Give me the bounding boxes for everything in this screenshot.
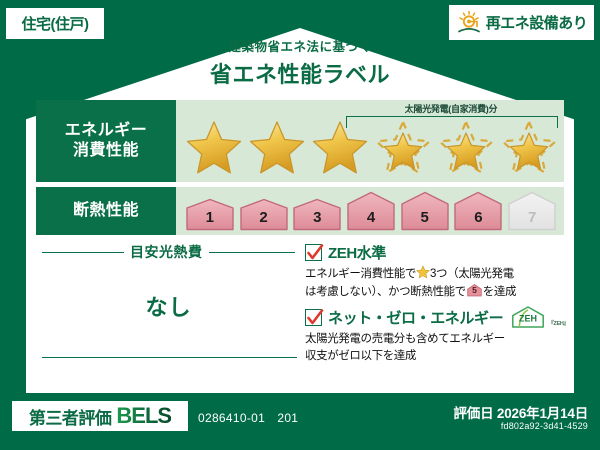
title-subtitle: 建築物省エネ法に基づく	[0, 36, 600, 55]
utility-cost-panel: 目安光熱費 なし	[36, 240, 301, 390]
net-zero-energy-description: 太陽光発電の売電分も含めてエネルギー 収支がゼロ以下を達成	[305, 331, 569, 364]
energy-star-5	[436, 119, 496, 177]
bels-registration-number: 0286410-01 201	[198, 409, 298, 426]
energy-star-rating	[182, 117, 560, 179]
inline-insulation-badge: 5	[466, 283, 483, 297]
inline-star-icon	[416, 265, 430, 279]
cost-rule-left	[42, 252, 124, 253]
bels-badge: 第三者評価 BELS	[12, 401, 188, 431]
zeh-standard-item: ZEH水準 エネルギー消費性能で 3つ（太陽光発電 は考慮しない）、かつ断熱性能…	[305, 242, 569, 300]
insulation-level-scale: 1234567	[184, 187, 558, 235]
net-zero-desc-line1: 太陽光発電の売電分も含めてエネルギー	[305, 333, 505, 345]
zeh-logo-subtext: 『ZEH』	[548, 319, 569, 329]
zeh-desc-part3: を達成	[483, 286, 516, 298]
bels-logo-text: BELS	[116, 403, 171, 429]
energy-star-3	[310, 119, 370, 177]
energy-label-root: 住宅(住戸) 再エネ設備あり 建築物省エネ法に基づく 省エネ性能ラベル	[0, 0, 600, 450]
energy-star-4	[373, 119, 433, 177]
net-zero-energy-title: ネット・ゼロ・エネルギー	[328, 307, 503, 328]
insulation-step-1: 1	[184, 198, 236, 231]
net-zero-energy-header: ネット・ゼロ・エネルギー ZEH 『ZEH』	[305, 305, 569, 329]
insulation-step-6: 6	[453, 191, 505, 231]
energy-performance-value: 太陽光発電(自家消費)分	[176, 100, 564, 182]
net-zero-desc-line2: 収支がゼロ以下を達成	[305, 350, 416, 362]
housing-type-label: 住宅(住戸)	[22, 13, 89, 34]
insulation-step-7: 7	[506, 191, 558, 231]
insulation-step-2: 2	[238, 198, 290, 231]
cost-rule-right	[209, 252, 296, 253]
energy-label-line1: エネルギー	[65, 121, 148, 141]
evaluation-id: fd802a92-3d41-4529	[501, 421, 588, 431]
housing-type-badge: 住宅(住戸)	[6, 8, 104, 39]
insulation-step-4: 4	[345, 191, 397, 231]
performance-rows: エネルギー 消費性能 太陽光発電(自家消費)分 断熱性能 1234567	[36, 100, 564, 240]
energy-label-line2: 消費性能	[73, 141, 139, 161]
evaluation-date: 評価日 2026年1月14日	[453, 402, 588, 422]
insulation-performance-label: 断熱性能	[36, 187, 176, 235]
zeh-logo-group: ZEH 『ZEH』	[509, 305, 569, 329]
zeh-standard-header: ZEH水準	[305, 242, 569, 263]
energy-star-2	[247, 119, 307, 177]
insulation-step-3: 3	[291, 198, 343, 231]
solar-portion-label: 太陽光発電(自家消費)分	[346, 102, 556, 115]
insulation-label-text: 断熱性能	[73, 201, 139, 221]
sun-solar-icon	[456, 10, 482, 36]
insulation-performance-row: 断熱性能 1234567	[36, 187, 564, 235]
insulation-performance-value: 1234567	[176, 187, 564, 235]
zeh-desc-part2: は考慮しない）、かつ断熱性能で	[305, 286, 466, 298]
utility-cost-value: なし	[36, 290, 301, 322]
utility-cost-title: 目安光熱費	[130, 242, 203, 262]
renewable-equipment-badge: 再エネ設備あり	[449, 5, 594, 40]
energy-performance-label: エネルギー 消費性能	[36, 100, 176, 182]
insulation-step-5: 5	[399, 191, 451, 231]
energy-performance-row: エネルギー 消費性能 太陽光発電(自家消費)分	[36, 100, 564, 182]
zeh-standard-checkbox[interactable]	[305, 244, 322, 261]
renewable-equipment-label: 再エネ設備あり	[486, 12, 588, 33]
bels-jp-label: 第三者評価	[29, 404, 112, 429]
page-title: 省エネ性能ラベル	[0, 57, 600, 89]
svg-text:ZEH: ZEH	[519, 314, 537, 324]
energy-star-6	[499, 119, 559, 177]
zeh-panel: ZEH水準 エネルギー消費性能で 3つ（太陽光発電 は考慮しない）、かつ断熱性能…	[301, 240, 569, 390]
net-zero-energy-item: ネット・ゼロ・エネルギー ZEH 『ZEH』 太陽光発電の売電分	[305, 305, 569, 364]
inline-insulation-badge-value: 5	[466, 284, 483, 296]
utility-cost-header: 目安光熱費	[36, 242, 301, 262]
net-zero-energy-checkbox[interactable]	[305, 309, 322, 326]
cost-underline	[42, 357, 297, 358]
zeh-standard-title: ZEH水準	[328, 242, 386, 263]
energy-star-1	[184, 119, 244, 177]
bottom-section: 目安光熱費 なし ZEH水準 エネルギー消費性能で	[36, 240, 564, 390]
zeh-standard-description: エネルギー消費性能で 3つ（太陽光発電 は考慮しない）、かつ断熱性能で 5 を達…	[305, 265, 569, 300]
zeh-desc-part1: エネルギー消費性能で	[305, 268, 416, 280]
zeh-desc-stars: 3つ（太陽光発電	[430, 268, 514, 280]
footer-bar: 第三者評価 BELS 0286410-01 201 評価日 2026年1月14日…	[0, 393, 600, 450]
label-title-block: 建築物省エネ法に基づく 省エネ性能ラベル	[0, 36, 600, 89]
zeh-house-logo-icon: ZEH	[509, 305, 547, 329]
